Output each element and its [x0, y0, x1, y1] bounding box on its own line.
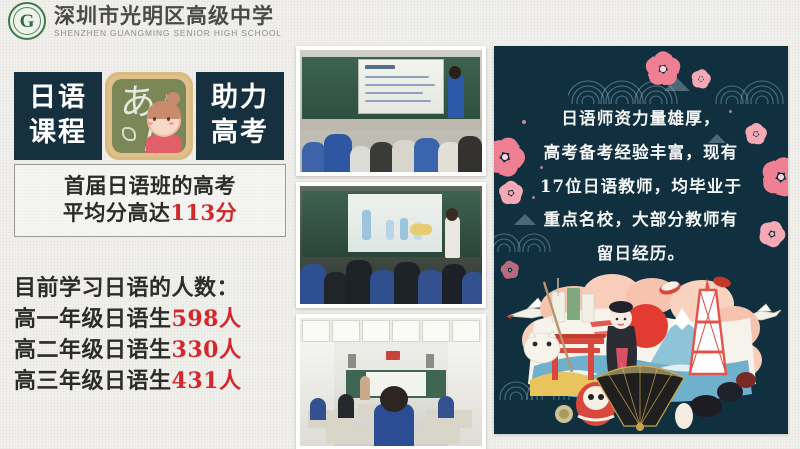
- display-sheet: [392, 320, 420, 342]
- student-figure: [350, 146, 372, 172]
- student-figure: [370, 142, 394, 172]
- screen-text-line: [365, 100, 431, 102]
- faculty-text-line-4: 重点名校，大部分教师有: [516, 203, 766, 237]
- stats-heading: 目前学习日语的人数：: [14, 273, 286, 304]
- school-name-en: SHENZHEN GUANGMING SENIOR HIGH SCHOOL: [54, 29, 282, 38]
- stats-row-grade3-value: 431人: [172, 368, 242, 394]
- festival-banner-icon: [552, 278, 594, 322]
- faculty-description-text: 日语师资力量雄厚， 高考备考经验丰富，现有 17位日语教师，均毕业于 重点名校，…: [516, 102, 766, 271]
- teacher-figure: [448, 74, 464, 118]
- student-figure: [418, 270, 444, 304]
- faculty-text-line-3: 17位日语教师，均毕业于: [516, 170, 766, 204]
- crane-bird-icon: [614, 318, 652, 340]
- faculty-text-line-5: 留日经历。: [516, 237, 766, 271]
- student-figure: [414, 138, 440, 172]
- stats-row-grade1: 高一年级日语生598人: [14, 304, 286, 335]
- tokyo-tower-icon: [690, 278, 726, 374]
- student-figure: [302, 142, 326, 172]
- daruma-doll-icon: [576, 382, 616, 426]
- display-sheet: [332, 320, 360, 342]
- score-highlight: 113分: [170, 200, 237, 225]
- sushi-rice: [660, 280, 680, 293]
- score-line-2: 平均分高达113分: [21, 199, 279, 226]
- display-sheet: [302, 320, 330, 342]
- faculty-text-line-2: 高考备考经验丰富，现有: [516, 136, 766, 170]
- sushi-icon: [658, 279, 682, 297]
- student-figure: [310, 398, 326, 420]
- girl-cheek-left-icon: [148, 122, 153, 125]
- banner-left-line1: 日语: [29, 81, 87, 116]
- sakura-blossom-icon: [692, 70, 710, 88]
- stats-row-grade3-label: 高三年级日语生: [14, 368, 172, 394]
- screen-text-line: [365, 84, 435, 86]
- rock-shape: [736, 372, 756, 388]
- girl-bun-icon: [167, 92, 180, 105]
- screen-text-line: [365, 76, 429, 78]
- student-figure: [324, 134, 352, 172]
- japanese-faculty-panel: 日语师资力量雄厚， 高考备考经验丰富，现有 17位日语教师，均毕业于 重点名校，…: [494, 46, 788, 434]
- student-figure: [338, 394, 354, 418]
- title-banner: 日语 课程 あ め: [14, 72, 286, 160]
- speaker-icon: [348, 354, 356, 368]
- teacher-figure: [445, 216, 460, 258]
- exit-sign-icon: [386, 351, 400, 360]
- stats-row-grade2-label: 高二年级日语生: [14, 337, 172, 363]
- student-figure: [346, 260, 372, 304]
- ceiling-display-sheets: [300, 318, 482, 344]
- chalkboard-surface: あ め: [112, 79, 186, 153]
- girl-body-icon: [146, 135, 182, 153]
- sakura-blossom-icon: [764, 160, 788, 194]
- screen-illustration: [362, 210, 371, 240]
- folding-fan-icon: [596, 360, 684, 431]
- student-desk: [408, 428, 460, 444]
- mountain-motif-icon: [554, 362, 574, 372]
- torii-gate-icon: [540, 334, 606, 380]
- classroom-photo-whiteboard-lesson: [296, 46, 486, 176]
- projection-screen: [358, 59, 444, 114]
- stats-row-grade2: 高二年级日语生330人: [14, 335, 286, 366]
- photo-image-3: [300, 318, 482, 446]
- teacher-figure: [360, 376, 370, 400]
- crest-letter: G: [20, 12, 35, 31]
- stats-row-grade1-label: 高一年级日语生: [14, 306, 172, 332]
- geisha-figure-icon: [606, 301, 637, 382]
- left-content-column: 日语 课程 あ め: [14, 72, 286, 398]
- school-name-cn: 深圳市光明区高级中学: [54, 5, 282, 27]
- japanese-class-chalkboard-icon: あ め: [105, 72, 193, 160]
- golden-hill: [530, 372, 598, 396]
- student-head-foreground: [380, 386, 408, 412]
- seigaiha-wave-icon: [640, 328, 720, 358]
- screen-sun-shape: [410, 224, 432, 235]
- lucky-cat-icon: [524, 331, 560, 363]
- seigaiha-wave-icon: [714, 68, 788, 104]
- girl-eye-left-icon: [153, 117, 156, 121]
- rock-shape: [690, 395, 722, 417]
- screen-title-line: [365, 65, 395, 69]
- mountain-motif-icon: [664, 78, 690, 91]
- rock-shape: [717, 382, 743, 402]
- pebble-shape: [675, 403, 693, 429]
- student-figure: [438, 396, 454, 418]
- girl-eye-right-icon: [167, 117, 170, 121]
- student-figure: [394, 262, 420, 304]
- pole-icon: [544, 282, 572, 372]
- crane-bird-icon: [682, 298, 732, 326]
- display-sheet: [362, 320, 390, 342]
- screen-text-line: [365, 92, 423, 94]
- student-figure: [324, 272, 348, 304]
- girl-cheek-right-icon: [169, 122, 174, 125]
- chalk-doodle-icon: [122, 127, 136, 141]
- photo-image-2: [300, 186, 482, 304]
- projection-screen: [348, 194, 442, 252]
- enrollment-stats: 目前学习日语的人数： 高一年级日语生598人 高二年级日语生330人 高三年级日…: [14, 273, 286, 398]
- speaker-icon: [426, 354, 434, 368]
- classroom-photo-wide-view: [296, 314, 486, 449]
- school-crest-icon: G: [8, 2, 46, 40]
- crane-bird-icon: [740, 302, 784, 326]
- stats-row-grade3: 高三年级日语生431人: [14, 366, 286, 397]
- teacher-head: [446, 208, 458, 221]
- crane-bird-icon: [504, 296, 560, 326]
- mount-fuji-icon: [644, 308, 720, 374]
- front-desk: [300, 119, 482, 131]
- sushi-icon: [712, 275, 732, 289]
- student-figure: [462, 272, 482, 304]
- student-figure: [300, 264, 326, 304]
- display-sheet: [422, 320, 450, 342]
- crane-bird-icon: [544, 314, 588, 338]
- student-figure: [458, 136, 482, 172]
- slide-root: G 深圳市光明区高级中学 SHENZHEN GUANGMING SENIOR H…: [0, 0, 800, 449]
- student-desk: [326, 428, 378, 444]
- banner-right-line1: 助力: [211, 81, 269, 116]
- score-line-2-prefix: 平均分高达: [63, 200, 171, 225]
- rising-sun-icon: [624, 304, 668, 348]
- banner-left-block: 日语 课程: [14, 72, 102, 160]
- seigaiha-wave-icon: [568, 60, 678, 104]
- student-figure: [370, 270, 396, 304]
- classroom-photo-projector-lesson: [296, 182, 486, 308]
- banner-left-line2: 课程: [29, 116, 87, 151]
- banner-right-block: 助力 高考: [196, 72, 284, 160]
- display-sheet: [452, 320, 480, 342]
- japan-culture-illustration: [494, 256, 788, 434]
- photo-image-1: [300, 50, 482, 172]
- charm-icon: [555, 405, 573, 423]
- score-line-1: 首届日语班的高考: [21, 172, 279, 199]
- faculty-text-line-1: 日语师资力量雄厚，: [516, 102, 766, 136]
- classroom-photo-column: [296, 46, 486, 449]
- stats-row-grade1-value: 598人: [172, 306, 242, 332]
- school-header: G 深圳市光明区高级中学 SHENZHEN GUANGMING SENIOR H…: [8, 2, 282, 40]
- stats-row-grade2-value: 330人: [172, 337, 242, 363]
- screen-illustration: [400, 218, 408, 240]
- teacher-head: [449, 66, 461, 79]
- score-callout-box: 首届日语班的高考 平均分高达113分: [14, 164, 286, 237]
- screen-illustration: [386, 220, 394, 240]
- banner-right-line2: 高考: [211, 116, 269, 151]
- school-name-group: 深圳市光明区高级中学 SHENZHEN GUANGMING SENIOR HIG…: [54, 5, 282, 38]
